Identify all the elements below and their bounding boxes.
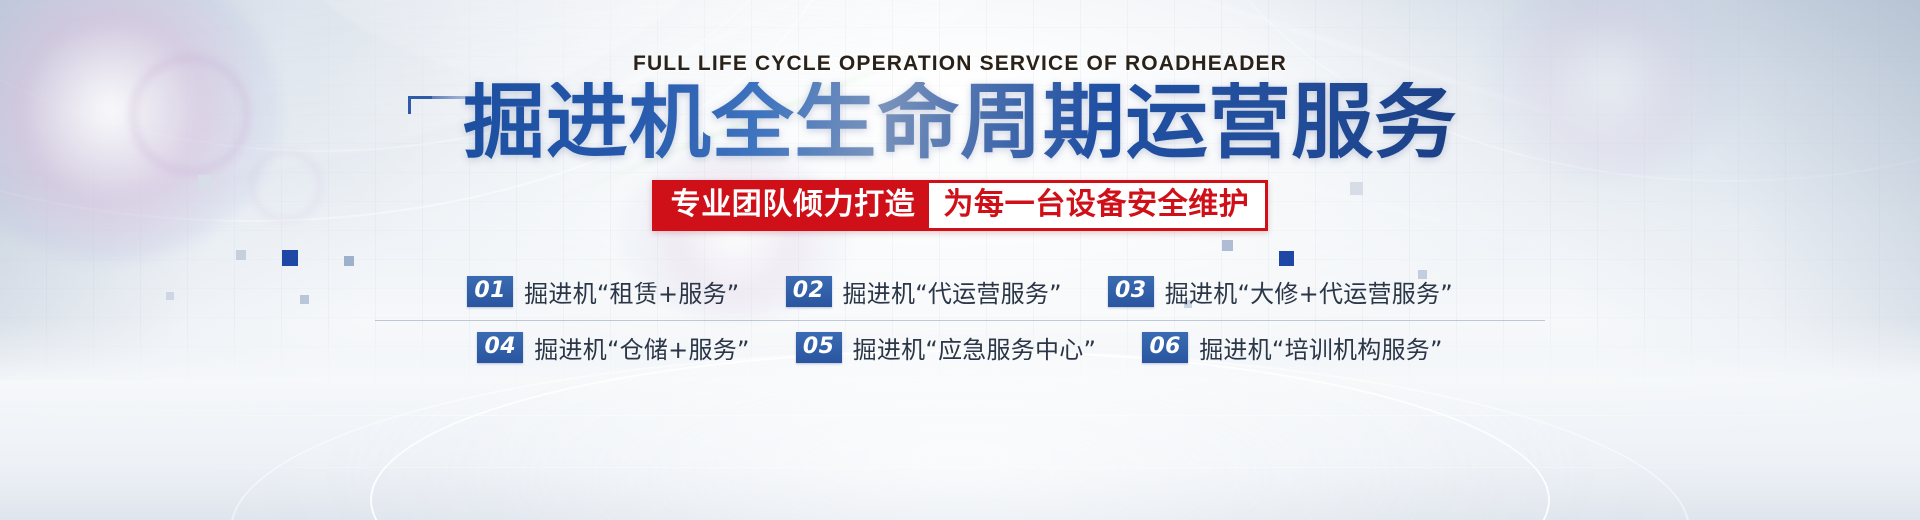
slogan-left-text: 专业团队倾力打造 <box>655 183 930 228</box>
banner-headline: 掘进机全生命周期运营服务 <box>463 82 1457 164</box>
service-label-06: 掘进机“培训机构服务” <box>1199 330 1443 365</box>
service-number-badge-06: 06 <box>1142 332 1188 363</box>
service-label-04: 掘进机“仓储+服务” <box>534 330 749 365</box>
slogan-right-text: 为每一台设备安全维护 <box>929 183 1265 228</box>
service-item-02[interactable]: 02 掘进机“代运营服务” <box>786 274 1062 309</box>
service-number-badge-04: 04 <box>477 332 523 363</box>
service-number-badge-03: 03 <box>1108 276 1154 307</box>
service-label-01: 掘进机“租赁+服务” <box>524 274 739 309</box>
service-row-2: 04 掘进机“仓储+服务” 05 掘进机“应急服务中心” 06 掘进机“培训机构… <box>375 321 1545 376</box>
service-label-02: 掘进机“代运营服务” <box>843 274 1062 309</box>
service-label-05: 掘进机“应急服务中心” <box>853 330 1097 365</box>
service-number-badge-01: 01 <box>467 276 513 307</box>
service-item-03[interactable]: 03 掘进机“大修+代运营服务” <box>1108 274 1453 309</box>
service-row-1: 01 掘进机“租赁+服务” 02 掘进机“代运营服务” 03 掘进机“大修+代运… <box>375 265 1545 321</box>
service-item-05[interactable]: 05 掘进机“应急服务中心” <box>796 330 1097 365</box>
slogan-strip: 专业团队倾力打造 为每一台设备安全维护 <box>652 180 1269 231</box>
service-item-04[interactable]: 04 掘进机“仓储+服务” <box>477 330 749 365</box>
banner-eyebrow-english: FULL LIFE CYCLE OPERATION SERVICE OF ROA… <box>633 52 1287 76</box>
service-list: 01 掘进机“租赁+服务” 02 掘进机“代运营服务” 03 掘进机“大修+代运… <box>375 265 1545 376</box>
promo-banner: FULL LIFE CYCLE OPERATION SERVICE OF ROA… <box>0 0 1920 520</box>
service-number-badge-02: 02 <box>786 276 832 307</box>
service-item-01[interactable]: 01 掘进机“租赁+服务” <box>467 274 739 309</box>
banner-content: FULL LIFE CYCLE OPERATION SERVICE OF ROA… <box>0 0 1920 520</box>
service-label-03: 掘进机“大修+代运营服务” <box>1165 274 1453 309</box>
service-item-06[interactable]: 06 掘进机“培训机构服务” <box>1142 330 1443 365</box>
service-number-badge-05: 05 <box>796 332 842 363</box>
